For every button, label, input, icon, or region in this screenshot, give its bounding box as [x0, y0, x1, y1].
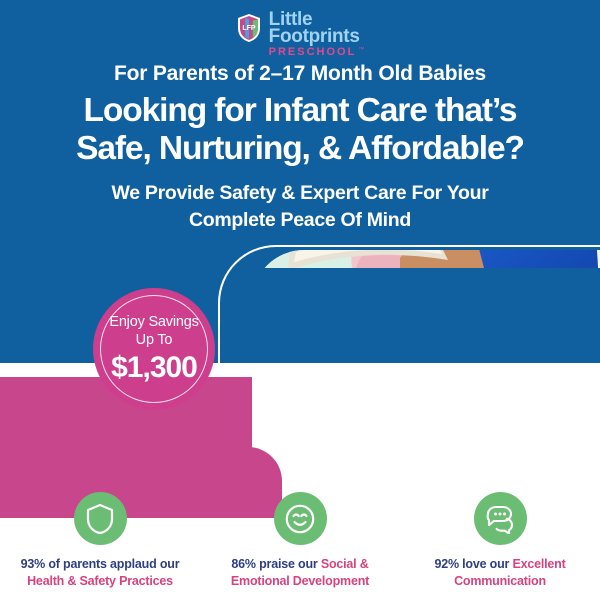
stat-caption: 93% of parents applaud our Health & Safe…	[15, 556, 186, 590]
stat-item-communication: 92% love our Excellent Communication	[400, 492, 600, 590]
savings-badge[interactable]: Enjoy Savings Up To $1,300	[93, 288, 215, 410]
brand-subtitle: PRESCHOOL	[269, 47, 357, 58]
stat-caption-plain: 93% of parents applaud our	[21, 557, 180, 571]
classroom-photo	[252, 250, 600, 518]
trademark-symbol: ™	[358, 47, 364, 54]
shield-icon	[85, 503, 115, 535]
chat-bubbles-icon	[484, 504, 516, 534]
stat-caption: 86% praise our Social & Emotional Develo…	[200, 556, 400, 590]
headline-line-2: Safe, Nurturing, & Affordable?	[10, 130, 590, 168]
stat-icon-circle	[274, 492, 327, 545]
smiley-face-icon	[284, 503, 316, 535]
stat-icon-circle	[74, 492, 127, 545]
brand-name-line2: Footprints	[269, 29, 360, 45]
classroom-photo-illustration	[252, 250, 600, 268]
savings-badge-label: Enjoy Savings Up To	[109, 313, 198, 349]
subheadline: We Provide Safety & Expert Care For Your…	[30, 180, 570, 234]
stat-item-health-safety: 93% of parents applaud our Health & Safe…	[0, 492, 200, 590]
eyebrow-text: For Parents of 2–17 Month Old Babies	[0, 62, 600, 86]
brand-logo[interactable]: LFP Little Footprints PRESCHOOL ™	[0, 12, 600, 58]
stat-caption-highlight: Health & Safety Practices	[27, 574, 173, 588]
stat-caption-plain: 86% praise our	[231, 557, 320, 571]
subheadline-line-1: We Provide Safety & Expert Care For Your	[30, 180, 570, 207]
brand-wordmark: Little Footprints PRESCHOOL ™	[269, 12, 365, 58]
stats-row: 93% of parents applaud our Health & Safe…	[0, 492, 600, 590]
savings-amount: $1,300	[111, 351, 197, 385]
stat-caption-plain: 92% love our	[434, 557, 512, 571]
shield-lfp-icon: LFP	[236, 13, 262, 43]
subheadline-line-2: Complete Peace Of Mind	[30, 207, 570, 234]
advertisement-banner: LFP Little Footprints PRESCHOOL ™ For Pa…	[0, 0, 600, 600]
savings-badge-ring	[100, 295, 208, 403]
savings-label-line-1: Enjoy Savings	[109, 313, 198, 331]
stat-caption: 92% love our Excellent Communication	[400, 556, 600, 590]
brand-subtitle-row: PRESCHOOL ™	[269, 47, 365, 58]
logo-monogram-text: LFP	[242, 25, 256, 32]
page-title: Looking for Infant Care that’s Safe, Nur…	[10, 92, 590, 168]
savings-label-line-2: Up To	[109, 331, 198, 349]
headline-line-1: Looking for Infant Care that’s	[10, 92, 590, 130]
stat-icon-circle	[474, 492, 527, 545]
stat-item-social-emotional: 86% praise our Social & Emotional Develo…	[200, 492, 400, 590]
